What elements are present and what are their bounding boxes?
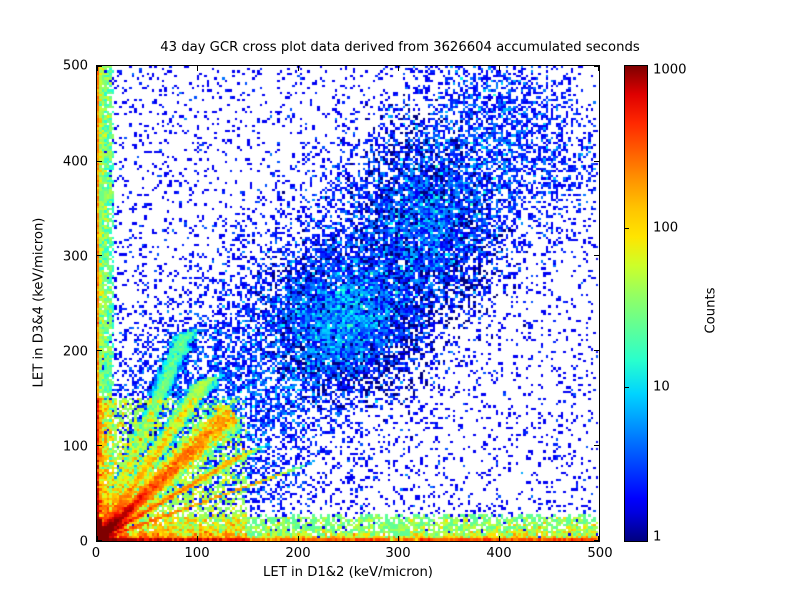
x-tick-top-100: [197, 66, 198, 71]
y-tick-right-400: [594, 161, 599, 162]
y-tick-right-200: [594, 350, 599, 351]
colorbar-tick-100: [624, 228, 629, 229]
x-tick-400: [499, 536, 500, 541]
plot-axes: [96, 65, 600, 542]
title-line-1: 43 day GCR cross plot data derived from …: [0, 40, 800, 57]
x-axis-label: LET in D1&2 (keV/micron): [96, 565, 600, 580]
x-tick-top-200: [298, 66, 299, 71]
y-ticklabel-500: 500: [44, 59, 88, 74]
colorbar: [624, 65, 648, 542]
y-tick-right-100: [594, 445, 599, 446]
colorbar-ticklabel-100: 100: [653, 221, 678, 236]
y-tick-right-500: [594, 66, 599, 67]
colorbar-label: Counts: [704, 241, 719, 381]
x-ticklabel-400: 400: [486, 546, 511, 561]
x-ticklabel-100: 100: [184, 546, 209, 561]
y-axis-label: LET in D3&4 (keV/micron): [32, 203, 47, 403]
colorbar-ticklabel-1: 1: [653, 530, 661, 545]
colorbar-ticklabel-1000: 1000: [653, 63, 687, 78]
y-ticklabel-0: 0: [44, 535, 88, 550]
colorbar-tick-10: [624, 387, 629, 388]
x-tick-300: [398, 536, 399, 541]
scatter-density-plot: [97, 66, 599, 541]
y-tick-0: [97, 540, 102, 541]
x-ticklabel-200: 200: [285, 546, 310, 561]
colorbar-ticklabel-10: 10: [653, 380, 670, 395]
x-ticklabel-300: 300: [385, 546, 410, 561]
x-tick-200: [298, 536, 299, 541]
colorbar-tick-1000: [624, 65, 629, 66]
y-tick-right-300: [594, 255, 599, 256]
y-ticklabel-100: 100: [44, 440, 88, 455]
y-tick-400: [97, 161, 102, 162]
x-tick-100: [197, 536, 198, 541]
y-tick-300: [97, 255, 102, 256]
x-tick-top-400: [499, 66, 500, 71]
y-tick-100: [97, 445, 102, 446]
y-tick-right-0: [594, 540, 599, 541]
y-ticklabel-300: 300: [44, 250, 88, 265]
y-tick-200: [97, 350, 102, 351]
y-ticklabel-200: 200: [44, 345, 88, 360]
colorbar-tick-1: [624, 541, 629, 542]
y-ticklabel-400: 400: [44, 155, 88, 170]
y-tick-500: [97, 66, 102, 67]
x-ticklabel-0: 0: [92, 546, 100, 561]
x-tick-top-300: [398, 66, 399, 71]
figure-canvas: 43 day GCR cross plot data derived from …: [0, 0, 800, 600]
x-ticklabel-500: 500: [587, 546, 612, 561]
